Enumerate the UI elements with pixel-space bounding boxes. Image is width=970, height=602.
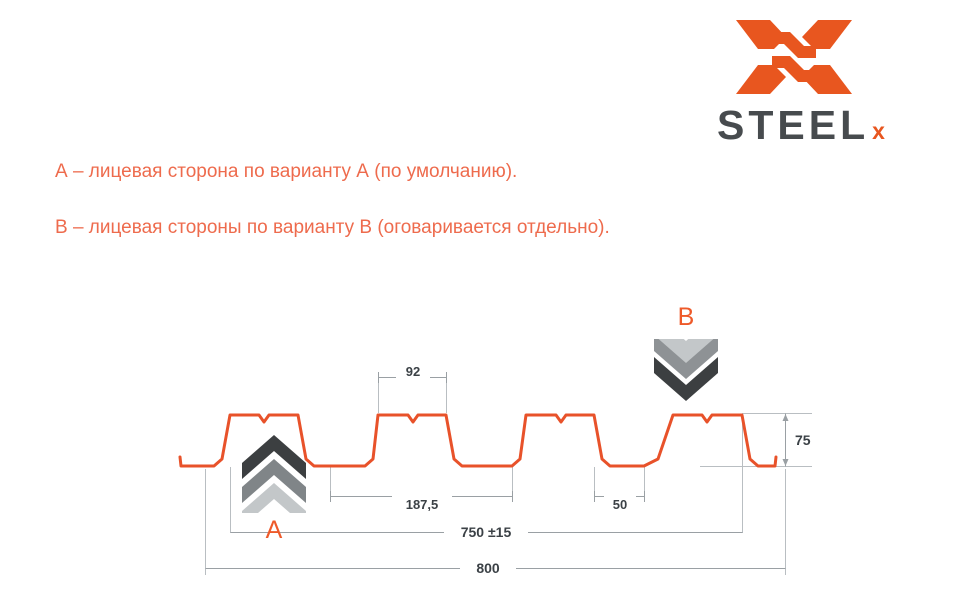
brand-wordmark: STEEL x [686, 106, 916, 146]
dim-800-label: 800 [476, 560, 500, 576]
brand-logo: STEEL x [686, 18, 916, 143]
marker-variant-b-label: В [650, 305, 722, 330]
profile-drawing-svg: 92 187,5 50 750 ±15 [0, 285, 970, 597]
dim-1875-label: 187,5 [406, 497, 439, 512]
dim-92-label: 92 [406, 364, 420, 379]
dim-50-label: 50 [613, 497, 627, 512]
dim-800: 800 [206, 559, 786, 576]
brand-superscript: x [872, 120, 885, 143]
dim-75-label: 75 [795, 432, 811, 448]
dim-1875: 187,5 [331, 491, 513, 512]
marker-variant-a: А [238, 433, 310, 543]
marker-variant-a-label: А [238, 518, 310, 543]
dim-750-label: 750 ±15 [461, 524, 512, 540]
chevron-down-stack-icon [650, 339, 722, 419]
note-variant-a: А – лицевая сторона по варианту А (по ум… [55, 161, 517, 183]
diagram-page: STEEL x А – лицевая сторона по варианту … [0, 0, 970, 597]
steelx-logo-icon [734, 18, 854, 96]
chevron-up-stack-icon [238, 433, 310, 513]
note-variant-b: В – лицевая стороны по варианту В (огова… [55, 217, 610, 239]
brand-name: STEEL [717, 105, 869, 146]
dim-75: 75 [783, 414, 817, 467]
dim-92: 92 [379, 364, 447, 383]
dim-50: 50 [595, 491, 645, 512]
profile-drawing: 92 187,5 50 750 ±15 [0, 285, 970, 597]
marker-variant-b: В [650, 305, 722, 417]
